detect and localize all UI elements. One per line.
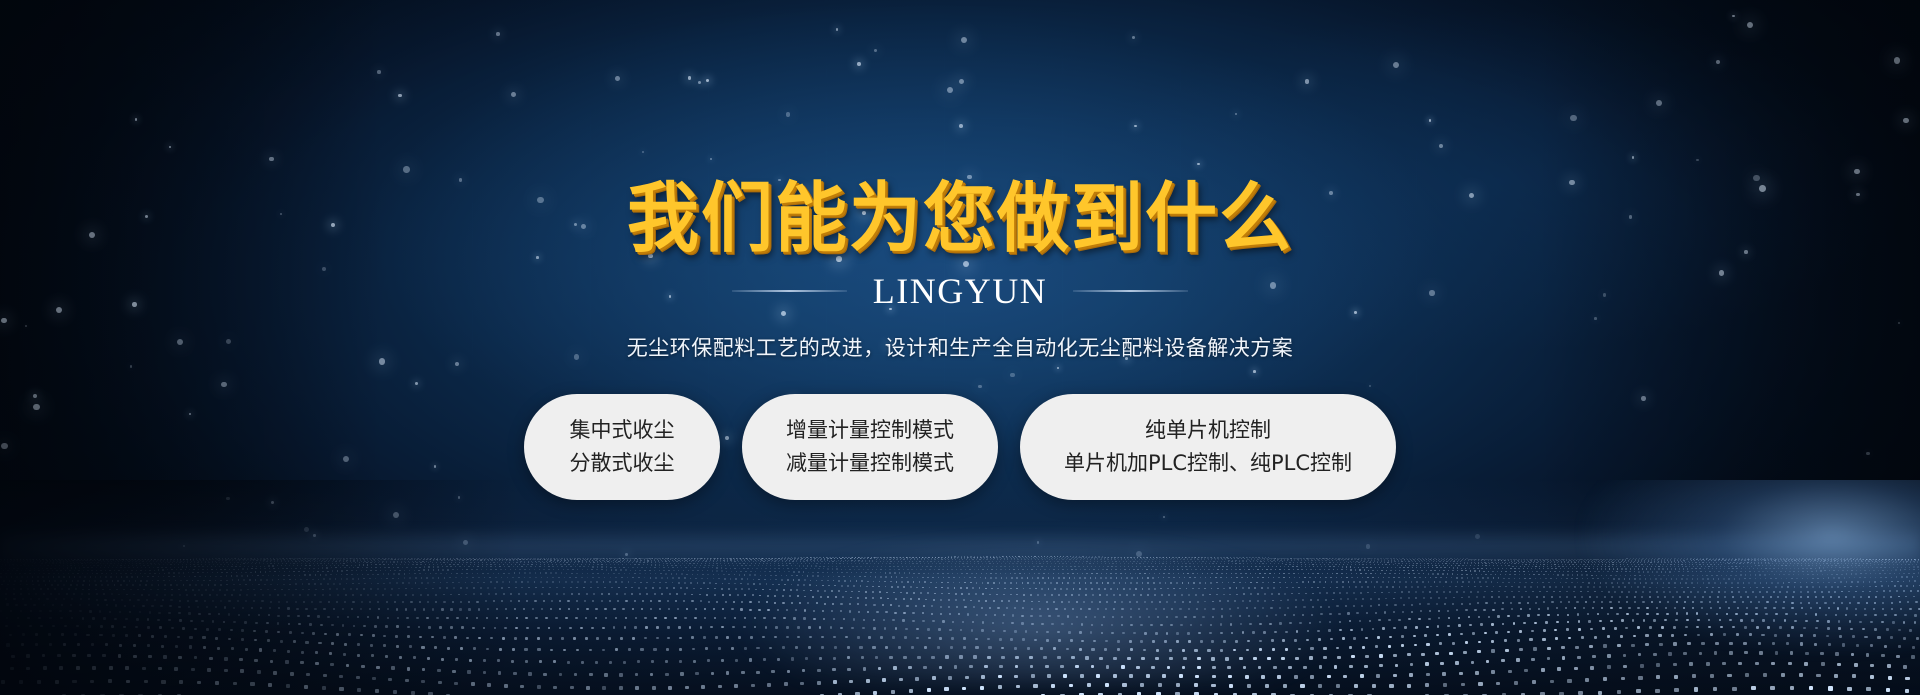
pill-line-2: 单片机加PLC控制、纯PLC控制 <box>1064 447 1352 480</box>
pill-line-2: 减量计量控制模式 <box>786 447 954 480</box>
pill-line-2: 分散式收尘 <box>569 447 674 480</box>
pill-line-1: 集中式收尘 <box>569 414 674 447</box>
banner-content: 我们能为您做到什么 LINGYUN 无尘环保配料工艺的改进，设计和生产全自动化无… <box>0 0 1920 695</box>
pill-line-1: 增量计量控制模式 <box>786 414 954 447</box>
hero-banner: 我们能为您做到什么 LINGYUN 无尘环保配料工艺的改进，设计和生产全自动化无… <box>0 0 1920 695</box>
banner-description: 无尘环保配料工艺的改进，设计和生产全自动化无尘配料设备解决方案 <box>627 332 1294 362</box>
page-title: 我们能为您做到什么 <box>627 180 1293 256</box>
feature-pill-group: 集中式收尘 分散式收尘 增量计量控制模式 减量计量控制模式 纯单片机控制 单片机… <box>524 394 1396 500</box>
brand-row: LINGYUN <box>732 270 1188 312</box>
divider-line-left <box>732 290 847 292</box>
feature-pill-control-system[interactable]: 纯单片机控制 单片机加PLC控制、纯PLC控制 <box>1020 394 1396 500</box>
divider-line-right <box>1073 290 1188 292</box>
pill-line-1: 纯单片机控制 <box>1145 414 1271 447</box>
feature-pill-dust-collection[interactable]: 集中式收尘 分散式收尘 <box>524 394 720 500</box>
feature-pill-metering-mode[interactable]: 增量计量控制模式 减量计量控制模式 <box>742 394 998 500</box>
brand-name: LINGYUN <box>873 270 1047 312</box>
